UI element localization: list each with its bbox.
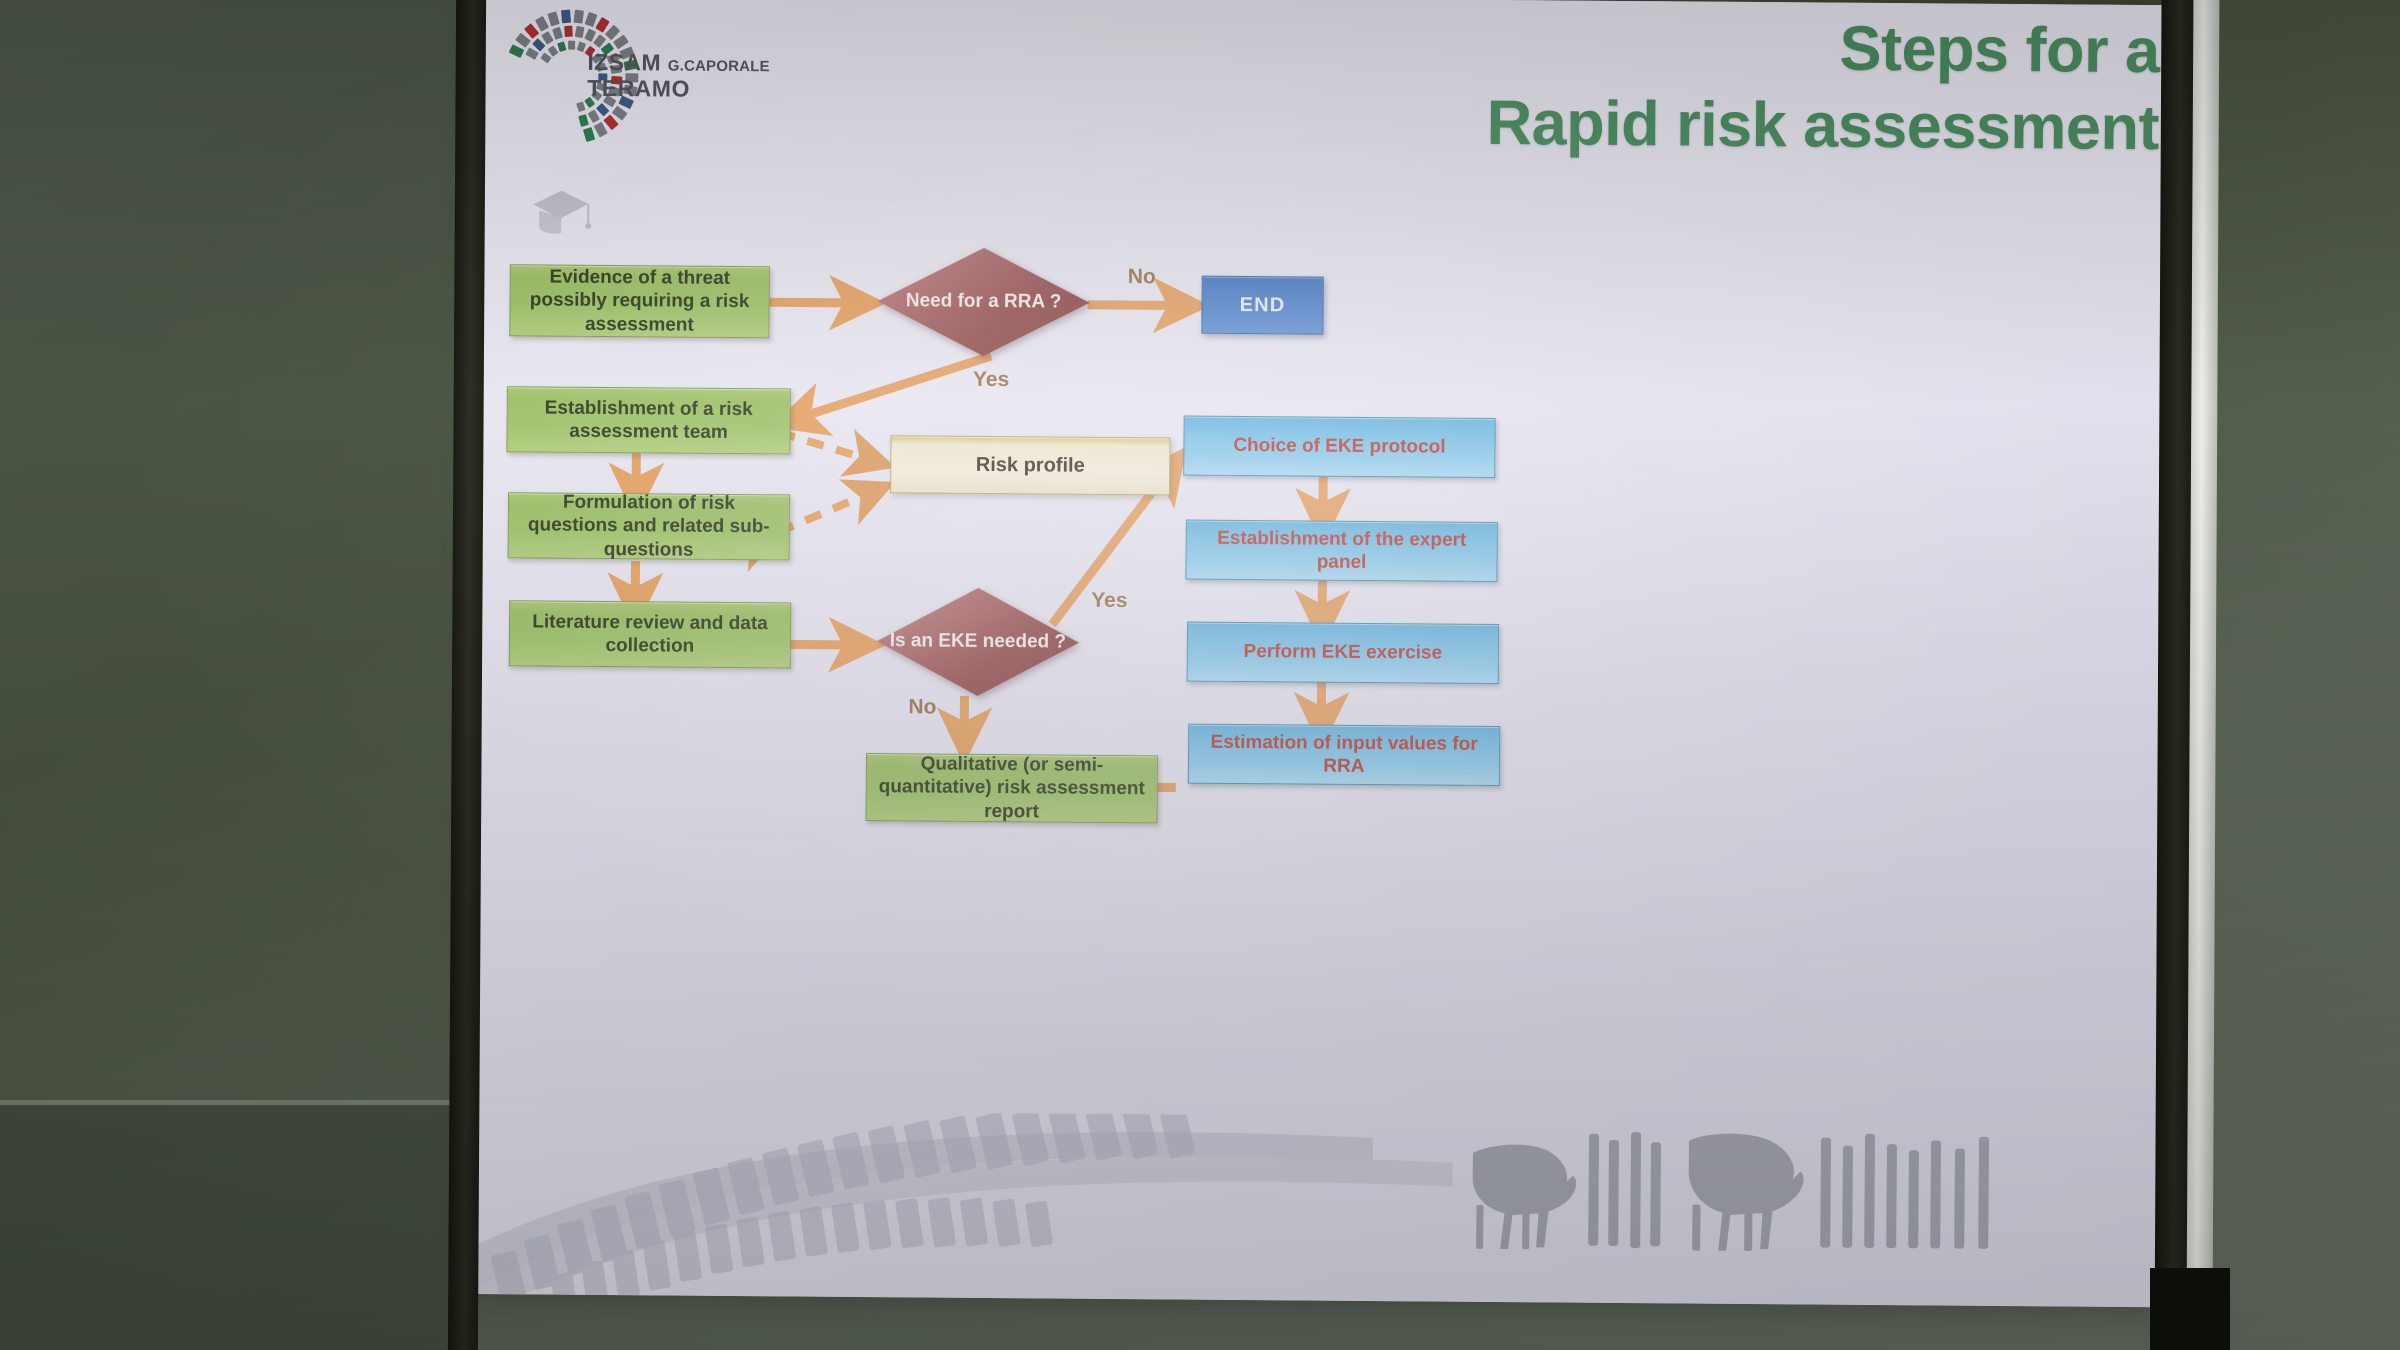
edge-questions-riskprofile-dashed <box>778 484 888 533</box>
node-risk-assessment-report[interactable]: Qualitative (or semi-quantitative) risk … <box>866 753 1159 823</box>
node-evidence[interactable]: Evidence of a threat possibly requiring … <box>509 264 770 338</box>
wall-lower-band <box>0 1105 470 1350</box>
edge-label-eke-yes: Yes <box>1091 589 1127 613</box>
edge-label-need-rra-no: No <box>1128 265 1156 289</box>
wall-seam <box>0 1100 470 1105</box>
node-perform-eke-exercise[interactable]: Perform EKE exercise <box>1187 622 1499 684</box>
node-end[interactable]: END <box>1201 276 1323 335</box>
screen-frame-bottom-shadow <box>2150 1268 2230 1350</box>
edge-team-riskprofile-dashed <box>778 432 888 465</box>
edge-label-need-rra-yes: Yes <box>973 368 1009 392</box>
room-scene: IZSAM G.CAPORALE TERAMO Steps for a Rapi… <box>0 0 2400 1350</box>
projection-screen: IZSAM G.CAPORALE TERAMO Steps for a Rapi… <box>472 0 2182 1307</box>
node-is-eke-needed[interactable]: Is an EKE needed ? <box>876 587 1079 697</box>
edge-evidence-to-need <box>770 302 878 303</box>
node-need-for-rra[interactable]: Need for a RRA ? <box>877 247 1090 357</box>
screen-frame-right-gloss <box>2187 0 2220 1320</box>
node-choice-of-eke-protocol[interactable]: Choice of EKE protocol <box>1183 416 1495 478</box>
node-risk-assessment-team[interactable]: Establishment of a risk assessment team <box>506 386 791 454</box>
node-risk-questions[interactable]: Formulation of risk questions and relate… <box>508 492 791 560</box>
node-risk-profile[interactable]: Risk profile <box>890 435 1170 495</box>
node-estimation-input-values[interactable]: Estimation of input values for RRA <box>1188 724 1500 786</box>
edge-need-to-team <box>779 354 992 426</box>
flowchart: Evidence of a threat possibly requiring … <box>472 0 2182 1307</box>
node-expert-panel[interactable]: Establishment of the expert panel <box>1185 520 1497 582</box>
edge-label-eke-no: No <box>908 695 936 719</box>
edge-need-to-end <box>1088 305 1202 306</box>
node-literature-review[interactable]: Literature review and data collection <box>509 600 792 668</box>
